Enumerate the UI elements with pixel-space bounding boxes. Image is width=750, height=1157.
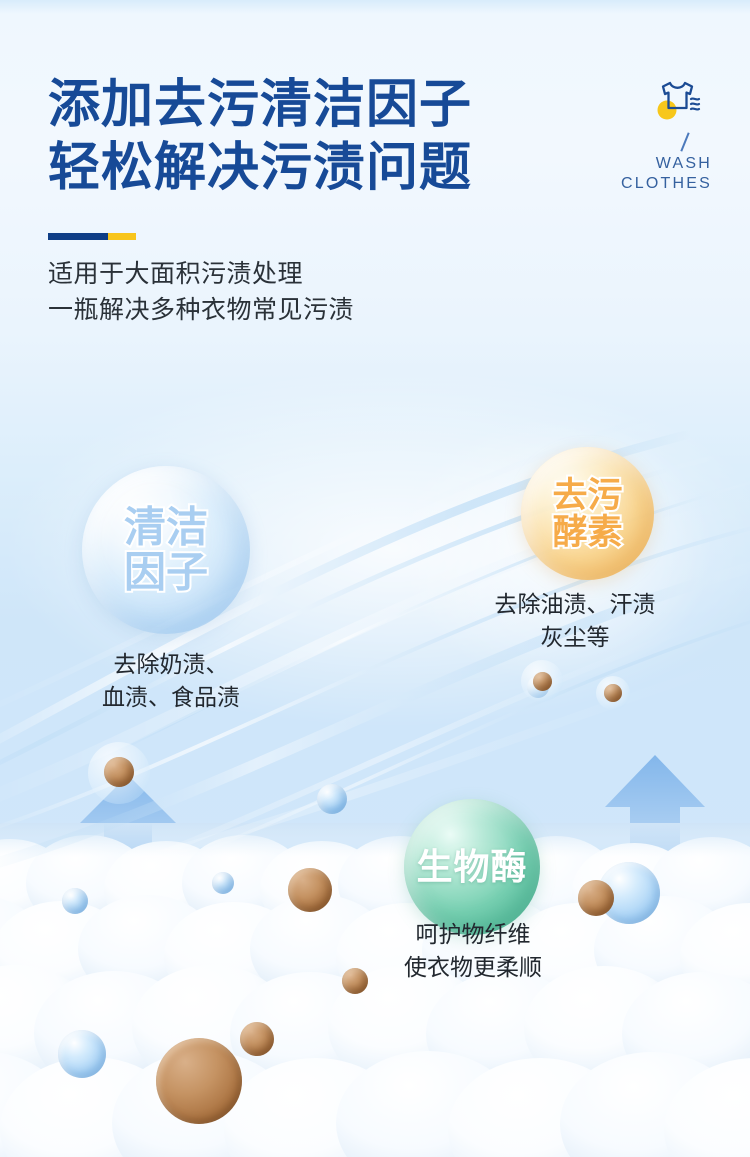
fabric-loop-row-4: [0, 1051, 750, 1157]
feature-bubble-stain-enzyme: 去污 酵素: [521, 447, 654, 580]
feature-label-line-2: 因子: [82, 550, 250, 595]
feature-label-line-1: 生物酶: [404, 848, 540, 886]
brand-logo-text: WASH CLOTHES: [592, 154, 712, 194]
headline-line-2: 轻松解决污渍问题: [48, 137, 472, 200]
brand-logo-line-1: WASH: [592, 154, 712, 174]
page-title: 添加去污清洁因子 轻松解决污渍问题: [48, 74, 472, 200]
feature-caption-line-1: 去除油渍、汗渍: [468, 588, 682, 621]
page-subtitle: 适用于大面积污渍处理 一瓶解决多种衣物常见污渍: [48, 256, 354, 328]
feature-caption-line-2: 使衣物更柔顺: [367, 951, 579, 984]
halo-bubble: [596, 676, 630, 710]
feature-label-cleaning-factor: 清洁 因子: [82, 505, 250, 594]
brand-logo: WASH CLOTHES: [592, 78, 712, 194]
feature-bubble-cleaning-factor: 清洁 因子: [82, 466, 250, 634]
water-droplet: [527, 676, 549, 698]
feature-label-line-2: 酵素: [521, 514, 654, 551]
slash-divider-icon: [680, 132, 689, 151]
feature-caption-cleaning-factor: 去除奶渍、 血渍、食品渍: [66, 648, 276, 714]
feature-label-stain-enzyme: 去污 酵素: [521, 476, 654, 550]
subtitle-line-1: 适用于大面积污渍处理: [48, 256, 354, 292]
feature-caption-line-1: 呵护物纤维: [367, 918, 579, 951]
dirt-particle: [533, 672, 552, 691]
tshirt-wash-icon: [650, 78, 706, 124]
feature-caption-bio-enzyme: 呵护物纤维 使衣物更柔顺: [367, 918, 579, 984]
brand-logo-line-2: CLOTHES: [592, 174, 712, 194]
divider-segment-gold: [108, 233, 136, 240]
divider-segment-blue: [48, 233, 108, 240]
yellow-dot-icon: [658, 101, 677, 120]
subtitle-line-2: 一瓶解决多种衣物常见污渍: [48, 292, 354, 328]
feature-label-line-1: 清洁: [82, 505, 250, 550]
header: 添加去污清洁因子 轻松解决污渍问题 适用于大面积污渍处理 一瓶解决多种衣物常见污…: [0, 0, 750, 360]
feature-bubble-bio-enzyme: 生物酶: [404, 799, 540, 935]
headline-line-1: 添加去污清洁因子: [48, 76, 472, 134]
feature-caption-line-2: 灰尘等: [468, 621, 682, 654]
feature-label-bio-enzyme: 生物酶: [404, 848, 540, 886]
feature-label-line-1: 去污: [521, 476, 654, 513]
halo-bubble: [521, 660, 563, 702]
feature-caption-line-2: 血渍、食品渍: [66, 681, 276, 714]
dirt-particle: [604, 684, 622, 702]
feature-caption-stain-enzyme: 去除油渍、汗渍 灰尘等: [468, 588, 682, 654]
title-divider: [48, 233, 136, 240]
product-detail-page: 添加去污清洁因子 轻松解决污渍问题 适用于大面积污渍处理 一瓶解决多种衣物常见污…: [0, 0, 750, 1157]
feature-caption-line-1: 去除奶渍、: [66, 648, 276, 681]
